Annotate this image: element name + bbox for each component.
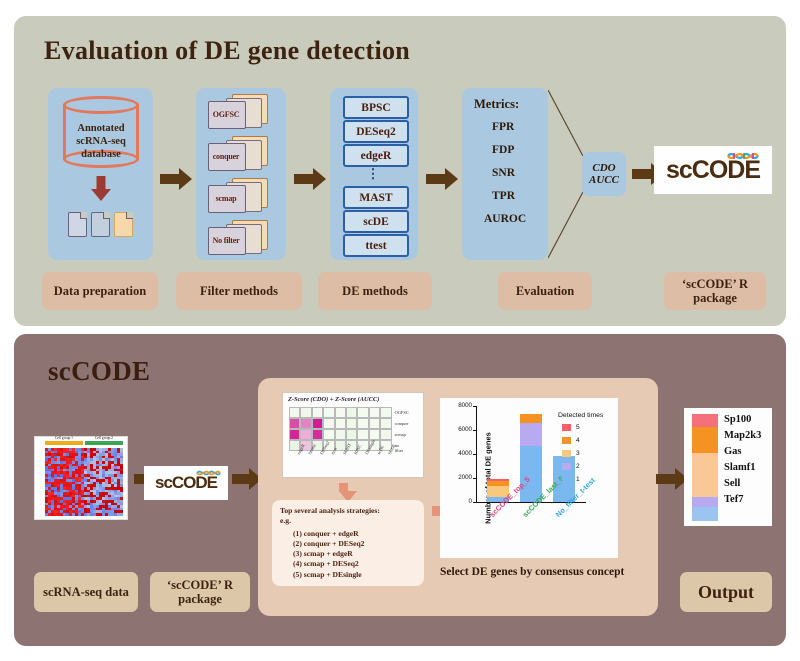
gene-name: Gas (724, 446, 742, 457)
sccode-logo: scCODE (654, 146, 772, 194)
metric-fdp: FDP (492, 144, 514, 156)
gene-color-swatch (692, 453, 718, 497)
input-expression-heatmap: Cell group 1 Cell group 2 (34, 436, 128, 520)
filter-label: OGFSC (208, 101, 244, 127)
zscore-cell (380, 429, 391, 440)
zscore-cell (312, 429, 323, 440)
zscore-cell (346, 429, 357, 440)
legend-swatch (562, 463, 571, 470)
zscore-row-label: scmap (395, 432, 406, 437)
metrics-title: Metrics: (474, 97, 519, 112)
de-method-deseq2: DESeq2 (343, 120, 409, 143)
chart-y-tick-label: 8000 (450, 402, 472, 409)
zscore-heatmap-card: Z-Score (CDO) + Z-Score (AUCC) OGFSCconq… (282, 392, 424, 478)
zscore-cell (300, 407, 311, 418)
zscore-cell (323, 407, 334, 418)
de-method-edger: edgeR (343, 144, 409, 167)
db-label-3: database (81, 149, 121, 160)
caption-data-preparation: Data preparation (42, 272, 158, 310)
de-method-scde: scDE (343, 210, 409, 233)
legend-label: 3 (576, 450, 580, 457)
ellipsis-icon: ⋮ (343, 166, 405, 182)
zscore-cell (380, 407, 391, 418)
gene-name: Sell (724, 478, 740, 489)
dna-helix-icon (195, 467, 223, 479)
de-method-mast: MAST (343, 186, 409, 209)
heatmap-cell (120, 513, 123, 516)
filter-method-no-filter: No filter (208, 220, 268, 254)
bar-segment (487, 481, 509, 486)
caption-de-methods: DE methods (318, 272, 432, 310)
score-aucc: AUCC (589, 174, 619, 186)
gene-color-swatch (692, 497, 718, 507)
flow-arrow-icon (331, 483, 355, 497)
chart-tick-mark (473, 406, 476, 407)
strategies-eg: e.g. (280, 516, 416, 526)
legend-label: 4 (576, 437, 580, 444)
chart-tick-mark (473, 454, 476, 455)
top-panel-title: Evaluation of DE gene detection (44, 36, 410, 66)
chart-caption: Select DE genes by consensus concept (440, 566, 624, 578)
group2-label: Cell group 2 (85, 436, 123, 440)
metric-snr: SNR (492, 167, 515, 179)
score-cdo: CDO (592, 162, 615, 174)
strategy-item: (2) conquer + DESeq2 (280, 539, 416, 549)
chart-tick-mark (473, 430, 476, 431)
output-gene-card: Sp100Map2k3GasSlamf1SellTef7 (684, 408, 772, 526)
zscore-cell (357, 429, 368, 440)
chart-y-tick-label: 0 (450, 498, 472, 505)
gene-name: Tef7 (724, 494, 743, 505)
caption-output: Output (680, 572, 772, 612)
gene-color-swatch (692, 414, 718, 427)
de-gene-bar-chart: Number of total DE genes 020004000600080… (440, 398, 618, 558)
zscore-title: Z-Score (CDO) + Z-Score (AUCC) (288, 396, 379, 403)
strategy-item: (3) scmap + edgeR (280, 549, 416, 559)
zscore-cell (369, 407, 380, 418)
filter-method-ogfsc: OGFSC (208, 94, 268, 128)
chart-tick-mark (473, 502, 476, 503)
stage-evaluation: Metrics: FPR FDP SNR TPR AUROC (462, 88, 548, 260)
filter-label: conquer (208, 143, 244, 169)
composite-score-node: CDO AUCC (582, 152, 626, 196)
legend-swatch (562, 424, 571, 431)
db-label-1: Annotated (77, 123, 124, 134)
zscore-cell (289, 407, 300, 418)
zscore-cell (357, 418, 368, 429)
metric-tpr: TPR (492, 190, 515, 202)
de-method-ttest: ttest (343, 234, 409, 257)
metric-auroc: AUROC (484, 213, 526, 225)
strategy-item: (5) scmap + DEsingle (280, 570, 416, 580)
strategies-box: Top several analysis strategies: e.g. (1… (272, 500, 424, 586)
flow-arrow-icon (426, 168, 458, 190)
legend-label: 5 (576, 424, 580, 431)
zscore-cell (300, 429, 311, 440)
caption-evaluation: Evaluation (498, 272, 592, 310)
document-icon (68, 212, 87, 237)
zscore-cell (380, 418, 391, 429)
chart-y-tick-label: 6000 (450, 426, 472, 433)
zscore-cell (335, 418, 346, 429)
zscore-cell (346, 418, 357, 429)
gene-color-swatch (692, 427, 718, 453)
zscore-cell (289, 418, 300, 429)
legend-label: 2 (576, 463, 580, 470)
chart-tick-mark (473, 478, 476, 479)
dna-helix-icon (726, 148, 764, 164)
metric-fpr: FPR (492, 121, 514, 133)
zscore-cell (346, 407, 357, 418)
caption-filter-methods: Filter methods (176, 272, 302, 310)
zscore-cell (312, 418, 323, 429)
zscore-cell (300, 418, 311, 429)
zscore-cell (357, 407, 368, 418)
zscore-cell (335, 429, 346, 440)
strategies-list: (1) conquer + edgeR(2) conquer + DESeq2(… (280, 529, 416, 580)
filter-method-conquer: conquer (208, 136, 268, 170)
zscore-cell (312, 407, 323, 418)
gene-color-swatch (692, 507, 718, 521)
zscore-cell (369, 418, 380, 429)
bar-segment (487, 479, 509, 481)
group2-color-bar (85, 441, 123, 445)
bottom-panel-title: scCODE (48, 356, 150, 387)
de-method-bpsc: BPSC (343, 96, 409, 119)
filter-label: scmap (208, 185, 244, 211)
strategies-heading: Top several analysis strategies: (280, 506, 416, 516)
flow-arrow-icon (160, 168, 192, 190)
chart-y-axis (476, 406, 477, 502)
zscore-row-label: OGFSC (395, 410, 409, 415)
legend-label: 1 (576, 476, 580, 483)
legend-swatch (562, 437, 571, 444)
zscore-cell (335, 407, 346, 418)
legend-swatch (562, 476, 571, 483)
gene-name: Slamf1 (724, 462, 756, 473)
bar-segment (520, 414, 542, 422)
filter-method-scmap: scmap (208, 178, 268, 212)
chart-y-tick-label: 4000 (450, 450, 472, 457)
chart-legend-title: Detected times (558, 412, 603, 419)
flow-arrow-icon (294, 168, 326, 190)
bar-segment (520, 423, 542, 446)
gene-name: Sp100 (724, 414, 751, 425)
document-icon (114, 212, 133, 237)
figure-root: Evaluation of DE gene detection Annotate… (0, 0, 800, 661)
sccode-logo: scCODE (144, 466, 228, 500)
down-arrow-icon (86, 176, 116, 202)
legend-swatch (562, 450, 571, 457)
caption-r-package: ‘scCODE’ R package (664, 272, 766, 310)
strategy-item: (1) conquer + edgeR (280, 529, 416, 539)
strategy-item: (4) scmap + DESeq2 (280, 559, 416, 569)
filter-label: No filter (208, 227, 244, 253)
group1-color-bar (45, 441, 83, 445)
database-cylinder: Annotated scRNA-seq database (63, 96, 139, 168)
group1-label: Cell group 1 (45, 436, 83, 440)
caption-scrna-data: scRNA-seq data (34, 572, 138, 612)
gene-name: Map2k3 (724, 430, 761, 441)
zscore-cell (323, 429, 334, 440)
caption-r-package: ‘scCODE’ R package (150, 572, 250, 612)
chart-y-tick-label: 2000 (450, 474, 472, 481)
zscore-row-label: conquer (395, 421, 409, 426)
zscore-cell (289, 429, 300, 440)
db-label-2: scRNA-seq (76, 136, 126, 147)
document-icon (91, 212, 110, 237)
zscore-cell (323, 418, 334, 429)
